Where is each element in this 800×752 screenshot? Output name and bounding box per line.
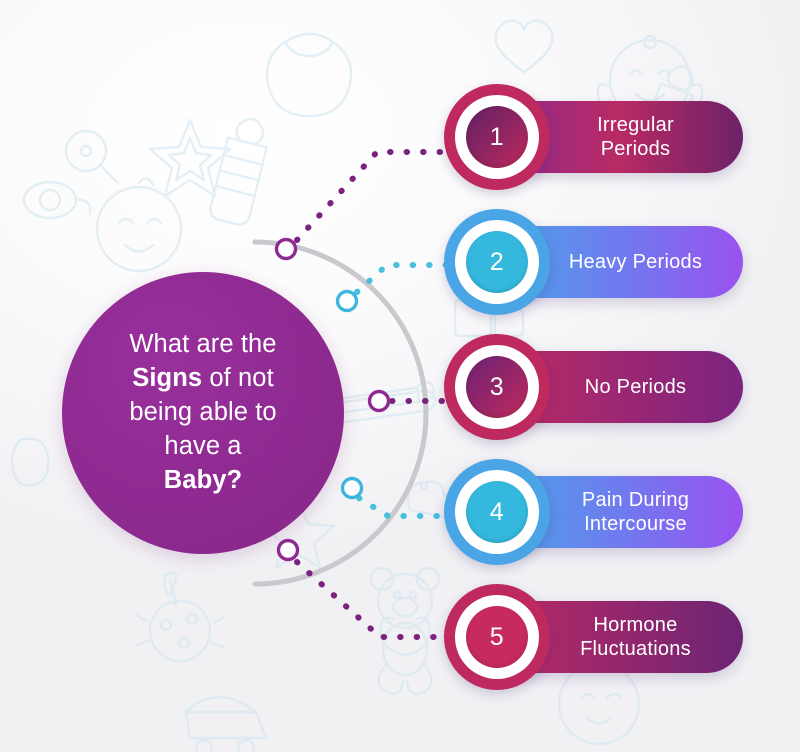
connector-line-5 [297,562,452,637]
item-number-badge: 2 [444,209,550,315]
infographic-canvas: What are theSigns of notbeing able tohav… [0,0,800,752]
badge-white-gap: 2 [455,220,539,304]
question-line: Signs of not [78,362,328,396]
question-line: Baby? [78,464,328,498]
central-question-circle: What are theSigns of notbeing able tohav… [62,272,344,554]
arc-marker-1 [277,240,296,259]
doodle-pacifier [24,182,90,218]
doodle-bib [267,34,351,116]
item-number-badge: 3 [444,334,550,440]
doodle-bottle-2 [208,114,272,227]
item-label: Hormone Fluctuations [580,613,691,662]
badge-white-gap: 3 [455,345,539,429]
connector-line-2 [357,265,456,292]
item-number-badge: 1 [444,84,550,190]
item-label: Heavy Periods [569,250,702,274]
list-item[interactable]: No Periods 3 [444,334,744,440]
badge-inner-disc: 3 [466,356,528,418]
doodle-rattle-2 [136,573,224,661]
connector-line-1 [297,152,452,240]
badge-number: 4 [490,500,504,525]
item-label: Pain During Intercourse [582,488,689,537]
badge-inner-disc: 2 [466,231,528,293]
item-label: Irregular Periods [597,113,674,162]
item-number-badge: 5 [444,584,550,690]
badge-inner-disc: 1 [466,106,528,168]
question-line: What are the [78,328,328,362]
connector-line-4 [359,498,456,516]
question-line: have a [78,430,328,464]
doodle-heart-2 [495,21,552,72]
badge-white-gap: 1 [455,95,539,179]
badge-number: 1 [490,125,504,150]
arc-marker-5 [279,541,298,560]
arc-marker-2 [338,292,357,311]
item-label: No Periods [585,375,686,399]
arc-marker-4 [343,479,362,498]
badge-white-gap: 4 [455,470,539,554]
doodle-star [150,120,230,196]
badge-number: 5 [490,625,504,650]
list-item[interactable]: Pain During Intercourse 4 [444,459,744,565]
list-item[interactable]: Heavy Periods 2 [444,209,744,315]
list-item[interactable]: Hormone Fluctuations 5 [444,584,744,690]
doodle-rattle [66,131,118,183]
doodle-teddy-bear [371,568,439,694]
badge-number: 2 [490,250,504,275]
list-item[interactable]: Irregular Periods 1 [444,84,744,190]
doodle-sock [12,439,48,486]
doodle-stroller [186,697,266,752]
central-question-text: What are theSigns of notbeing able tohav… [78,328,328,498]
arc-marker-3 [370,392,389,411]
badge-inner-disc: 4 [466,481,528,543]
item-number-badge: 4 [444,459,550,565]
question-line: being able to [78,396,328,430]
doodle-baby-face-2 [97,178,181,271]
badge-inner-disc: 5 [466,606,528,668]
badge-number: 3 [490,375,504,400]
badge-white-gap: 5 [455,595,539,679]
